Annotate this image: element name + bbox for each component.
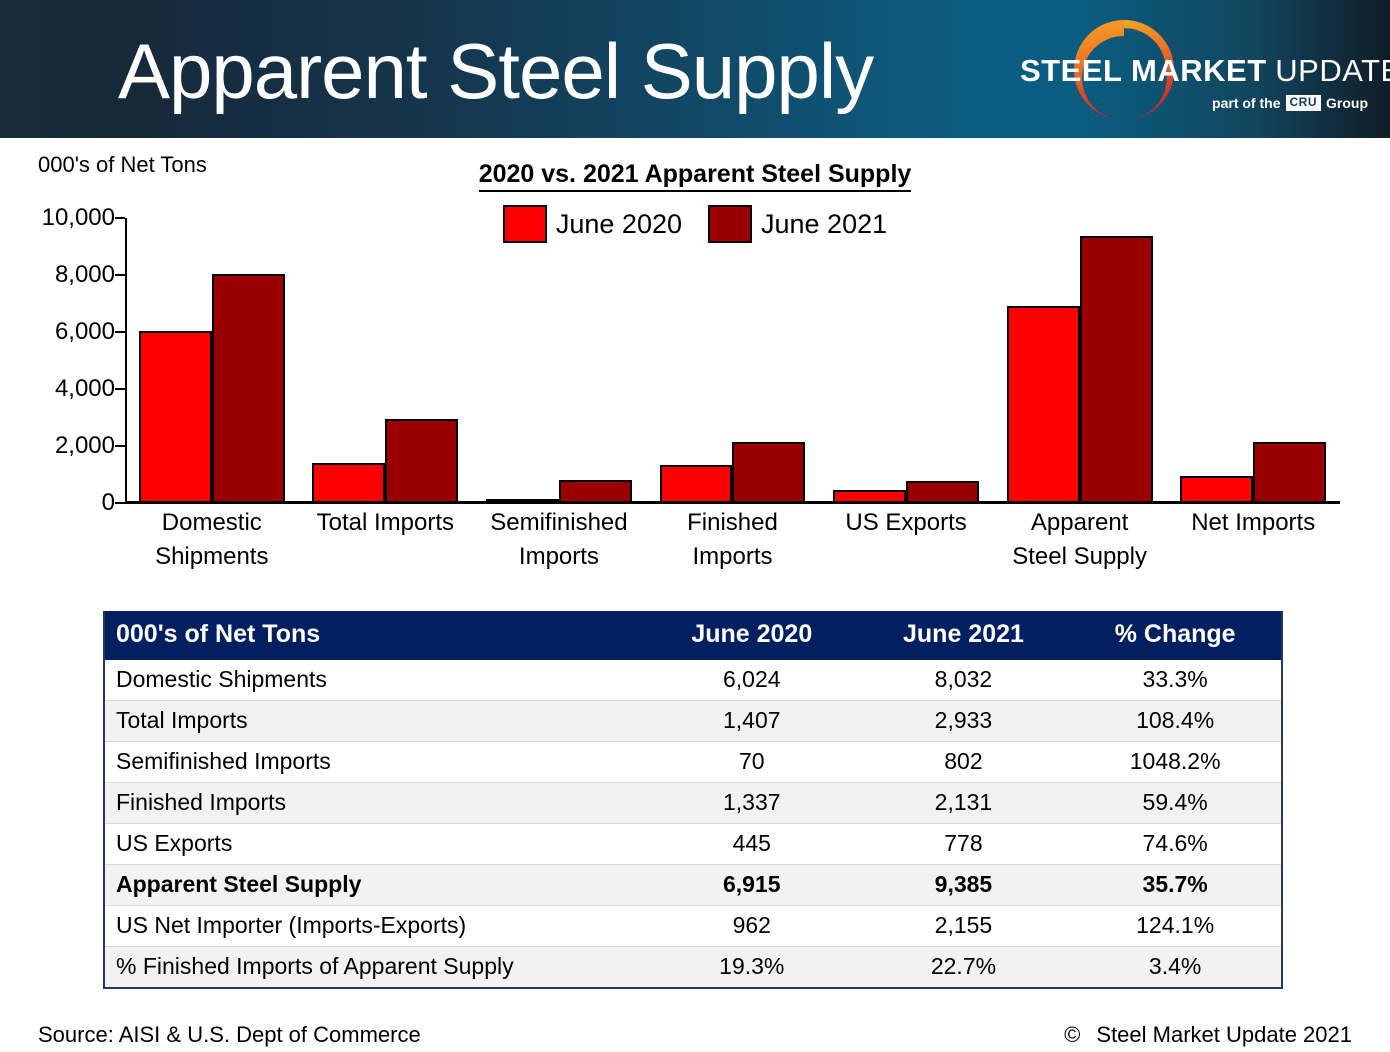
x-axis-tick-label: FinishedImports: [634, 506, 832, 574]
cell-june-2020: 6,024: [646, 660, 858, 701]
cell-row-label: Total Imports: [105, 701, 646, 742]
table-header-row: 000's of Net Tons June 2020 June 2021 % …: [105, 611, 1281, 660]
bar-chart-plot: DomesticShipmentsTotal ImportsSemifinish…: [125, 218, 1340, 503]
bar-group: [1166, 218, 1340, 503]
logo-sub-suffix: Group: [1326, 95, 1368, 111]
bar-2021[interactable]: [559, 480, 632, 503]
cell-june-2021: 2,131: [858, 783, 1070, 824]
cell-row-label: % Finished Imports of Apparent Supply: [105, 947, 646, 988]
chart-title-text: 2020 vs. 2021 Apparent Steel Supply: [479, 160, 912, 192]
x-axis-tick-label: DomesticShipments: [113, 506, 311, 574]
bar-2020[interactable]: [833, 490, 906, 503]
col-header-june-2021: June 2021: [858, 611, 1070, 660]
cell-june-2021: 778: [858, 824, 1070, 865]
cell-pct-change: 108.4%: [1069, 701, 1281, 742]
bar-group: [646, 218, 820, 503]
copyright-note: ©Steel Market Update 2021: [1064, 1022, 1352, 1048]
y-axis-tick-label: 2,000: [20, 432, 115, 460]
x-axis-label-line: Imports: [460, 540, 658, 574]
table-row: US Net Importer (Imports-Exports)9622,15…: [105, 906, 1281, 947]
table-row: Apparent Steel Supply6,9159,38535.7%: [105, 865, 1281, 906]
bar-2020[interactable]: [139, 331, 212, 503]
bar-2021[interactable]: [1080, 236, 1153, 503]
bar-2020[interactable]: [1007, 306, 1080, 503]
table-row: % Finished Imports of Apparent Supply19.…: [105, 947, 1281, 988]
cell-june-2020: 445: [646, 824, 858, 865]
chart-title: 2020 vs. 2021 Apparent Steel Supply: [0, 160, 1390, 189]
logo-subtitle: part of the CRU Group: [1212, 95, 1368, 111]
bar-2021[interactable]: [1253, 442, 1326, 503]
table-row: Domestic Shipments6,0248,03233.3%: [105, 660, 1281, 701]
table-row: Semifinished Imports708021048.2%: [105, 742, 1281, 783]
x-axis-tick-label: SemifinishedImports: [460, 506, 658, 574]
cell-pct-change: 74.6%: [1069, 824, 1281, 865]
bar-2021[interactable]: [385, 419, 458, 503]
bar-group: [819, 218, 993, 503]
cell-june-2020: 19.3%: [646, 947, 858, 988]
x-axis-label-line: Semifinished: [460, 506, 658, 540]
cell-june-2020: 70: [646, 742, 858, 783]
cell-june-2021: 2,933: [858, 701, 1070, 742]
bar-group: [125, 218, 299, 503]
bar-2020[interactable]: [486, 499, 559, 503]
y-axis-tick: [115, 217, 125, 219]
y-axis-tick-label: 4,000: [20, 375, 115, 403]
x-axis-tick-label: US Exports: [807, 506, 1005, 540]
x-axis-label-line: Imports: [634, 540, 832, 574]
cell-pct-change: 1048.2%: [1069, 742, 1281, 783]
x-axis-label-line: Shipments: [113, 540, 311, 574]
cell-june-2021: 802: [858, 742, 1070, 783]
bar-2020[interactable]: [660, 465, 733, 503]
bar-group: [993, 218, 1167, 503]
x-axis-label-line: Total Imports: [287, 506, 485, 540]
source-note: Source: AISI & U.S. Dept of Commerce: [38, 1022, 421, 1048]
logo-word-update: UPDATE: [1275, 53, 1390, 88]
y-axis-labels: 02,0004,0006,0008,00010,000: [20, 218, 115, 503]
cru-badge: CRU: [1286, 95, 1322, 111]
x-axis-tick-label: Total Imports: [287, 506, 485, 540]
table-row: US Exports44577874.6%: [105, 824, 1281, 865]
cell-june-2020: 1,407: [646, 701, 858, 742]
logo-wordmark: STEEL MARKET UPDATE: [1020, 54, 1370, 88]
col-header-pct-change: % Change: [1069, 611, 1281, 660]
table-body: Domestic Shipments6,0248,03233.3%Total I…: [105, 660, 1281, 987]
cell-row-label: Domestic Shipments: [105, 660, 646, 701]
x-axis-label-line: Net Imports: [1154, 506, 1352, 540]
y-axis-tick: [115, 388, 125, 390]
bar-group: [472, 218, 646, 503]
bar-2020[interactable]: [312, 463, 385, 503]
cell-row-label: Semifinished Imports: [105, 742, 646, 783]
y-axis-tick-label: 6,000: [20, 318, 115, 346]
bar-2021[interactable]: [732, 442, 805, 503]
cell-june-2021: 9,385: [858, 865, 1070, 906]
y-axis-tick-label: 8,000: [20, 261, 115, 289]
x-axis-label-line: Apparent: [981, 506, 1179, 540]
data-table: 000's of Net Tons June 2020 June 2021 % …: [103, 611, 1283, 989]
cell-june-2020: 6,915: [646, 865, 858, 906]
cell-june-2020: 1,337: [646, 783, 858, 824]
y-axis-tick: [115, 274, 125, 276]
cell-pct-change: 3.4%: [1069, 947, 1281, 988]
x-axis-label-line: Finished: [634, 506, 832, 540]
page-title: Apparent Steel Supply: [118, 26, 873, 116]
x-axis-label-line: Domestic: [113, 506, 311, 540]
title-banner: Apparent Steel Supply STEEL MARKET UPDAT…: [0, 0, 1390, 138]
bar-group: [299, 218, 473, 503]
bar-2020[interactable]: [1180, 476, 1253, 503]
table-row: Finished Imports1,3372,13159.4%: [105, 783, 1281, 824]
steel-market-update-logo: STEEL MARKET UPDATE part of the CRU Grou…: [1020, 16, 1370, 124]
x-axis-tick-label: Net Imports: [1154, 506, 1352, 540]
logo-word-steel: STEEL: [1020, 53, 1122, 88]
cell-june-2021: 22.7%: [858, 947, 1070, 988]
bar-2021[interactable]: [906, 481, 979, 503]
copyright-text: Steel Market Update 2021: [1096, 1022, 1352, 1047]
logo-sub-prefix: part of the: [1212, 95, 1280, 111]
cell-june-2020: 962: [646, 906, 858, 947]
x-axis-label-line: Steel Supply: [981, 540, 1179, 574]
cell-pct-change: 124.1%: [1069, 906, 1281, 947]
y-axis-tick: [115, 445, 125, 447]
col-header-june-2020: June 2020: [646, 611, 858, 660]
y-axis-tick: [115, 331, 125, 333]
cell-june-2021: 8,032: [858, 660, 1070, 701]
cell-row-label: Finished Imports: [105, 783, 646, 824]
cell-row-label: US Exports: [105, 824, 646, 865]
slide-canvas: Apparent Steel Supply STEEL MARKET UPDAT…: [0, 0, 1390, 1052]
cell-pct-change: 35.7%: [1069, 865, 1281, 906]
x-axis-tick-label: ApparentSteel Supply: [981, 506, 1179, 574]
table-row: Total Imports1,4072,933108.4%: [105, 701, 1281, 742]
y-axis-tick-label: 10,000: [20, 204, 115, 232]
col-header-label: 000's of Net Tons: [105, 611, 646, 660]
cell-pct-change: 33.3%: [1069, 660, 1281, 701]
x-axis-label-line: US Exports: [807, 506, 1005, 540]
bar-2021[interactable]: [212, 274, 285, 503]
cell-pct-change: 59.4%: [1069, 783, 1281, 824]
copyright-icon: ©: [1064, 1022, 1080, 1047]
cell-row-label: Apparent Steel Supply: [105, 865, 646, 906]
cell-row-label: US Net Importer (Imports-Exports): [105, 906, 646, 947]
logo-word-market: MARKET: [1131, 53, 1267, 88]
y-axis-tick-label: 0: [20, 489, 115, 517]
cell-june-2021: 2,155: [858, 906, 1070, 947]
y-axis-tick: [115, 502, 125, 504]
